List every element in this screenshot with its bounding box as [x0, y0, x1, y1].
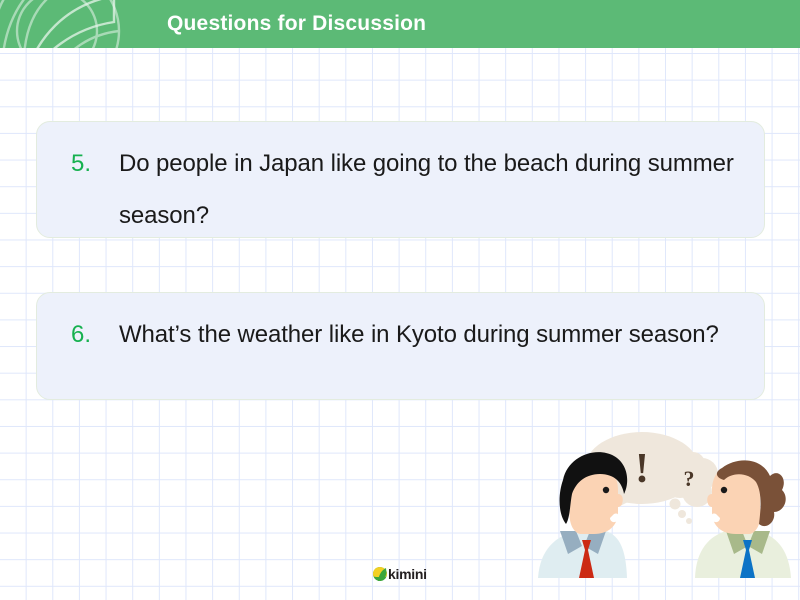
person-left-eye — [603, 487, 609, 493]
question-number: 6. — [71, 309, 119, 361]
slide-header: Questions for Discussion — [0, 0, 800, 48]
thought-bubble-question-icon: ? — [663, 452, 718, 524]
slide-root: Questions for Discussion 5. Do people in… — [0, 0, 800, 600]
question-row: 6. What’s the weather like in Kyoto duri… — [71, 309, 746, 361]
kimini-logo-text: kimini — [388, 566, 427, 582]
question-row: 5. Do people in Japan like going to the … — [71, 138, 746, 242]
question-number: 5. — [71, 138, 119, 190]
question-card: 6. What’s the weather like in Kyoto duri… — [36, 292, 765, 400]
question-text: Do people in Japan like going to the bea… — [119, 138, 746, 242]
kimini-leaf-logo-icon — [372, 566, 388, 582]
page-title: Questions for Discussion — [167, 0, 426, 48]
question-card: 5. Do people in Japan like going to the … — [36, 121, 765, 238]
person-left-avatar — [538, 452, 627, 578]
leaf-swirl-watermark-icon — [0, 0, 132, 48]
speech-bubble-symbol: ! — [635, 446, 649, 492]
question-text: What’s the weather like in Kyoto during … — [119, 309, 719, 361]
conversation-illustration: ! ? — [530, 428, 800, 578]
kimini-logo: kimini — [372, 564, 427, 584]
person-right-eye — [721, 487, 727, 493]
thought-bubble-symbol: ? — [684, 466, 695, 491]
